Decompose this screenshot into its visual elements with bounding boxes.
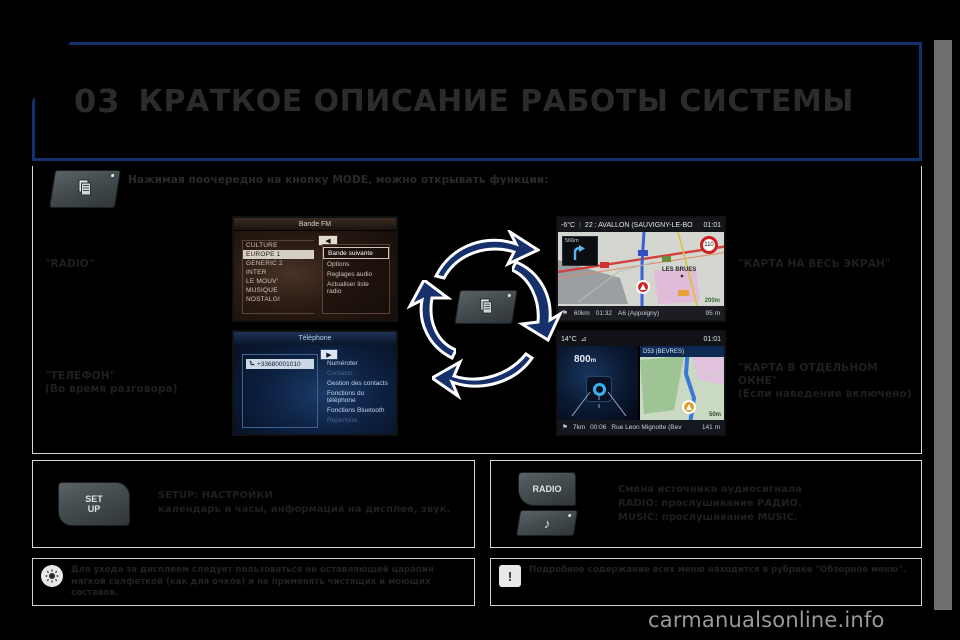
nav-status-bar: -6°C | 22 : AVALLON (SAUVIGNY-LE-BO 01:0… xyxy=(558,218,724,232)
nav-guidance-pane: 800m xyxy=(558,346,638,420)
header-baseline xyxy=(32,158,922,161)
menu-item: Reglages audio xyxy=(323,269,389,279)
remaining-time: 00:06 xyxy=(590,424,606,431)
menu-item-disabled: Contacts xyxy=(324,368,392,378)
display-care-text: Для ухода за дисплеем следует пользовать… xyxy=(71,565,466,600)
audio-source-radio: RADIO: прослушивание РАДИО. xyxy=(618,497,802,511)
caption-phone: "ТЕЛЕФОН" (Во время разговора) xyxy=(45,370,178,396)
caption-radio-label: "RADIO" xyxy=(45,258,94,271)
chapter-number: 03 xyxy=(74,82,121,120)
clock: 01:01 xyxy=(703,336,721,343)
mode-button-illustration xyxy=(52,170,118,208)
caption-phone-sub: (Во время разговора) xyxy=(45,383,178,396)
setup-button-line1: SET xyxy=(85,494,103,504)
menu-item: Fonctions du téléphone xyxy=(324,388,392,405)
setup-button-line2: UP xyxy=(88,504,101,514)
list-item-selected: EUROPE 1 xyxy=(243,250,314,259)
clock: 01:01 xyxy=(703,222,721,229)
menu-reference-note: ! Подробное содержание всех меню находит… xyxy=(490,558,922,606)
nav-trip-bar: ⚑ 7km 00:06 Rue Leon Mignotte (Bev 141 m xyxy=(558,420,724,434)
audio-source-description: Смена источника аудиосигнала RADIO: прос… xyxy=(618,483,802,525)
remaining-distance: 60km xyxy=(574,310,590,317)
setup-title: SETUP: НАСТРОЙКИ xyxy=(158,489,450,503)
manual-page: 03 КРАТКОЕ ОПИСАНИЕ РАБОТЫ СИСТЕМЫ Нажим… xyxy=(0,0,960,640)
caption-nav-split-sub: (Если наведение включено) xyxy=(738,388,912,401)
signal-icon: ⊿ xyxy=(581,335,587,343)
speed-limit-value: 110 xyxy=(704,242,714,248)
caption-nav-fullscreen-label: "КАРТА НА ВЕСЬ ЭКРАН" xyxy=(738,258,890,271)
page-edge-rail xyxy=(934,40,952,610)
display-care-icon xyxy=(41,565,63,587)
scale-value: 141 m xyxy=(702,424,720,431)
speed-limit-sign: 110 xyxy=(700,236,718,254)
radio-button-illustration: RADIO xyxy=(518,472,576,506)
nav-status-bar: 14°C ⊿ 01:01 xyxy=(558,332,724,346)
phone-number: +33680001010 xyxy=(257,361,301,368)
phone-screen-title: Téléphone xyxy=(234,332,396,345)
outside-temperature: -6°C xyxy=(561,222,575,229)
caption-nav-split-label: "КАРТА В ОТДЕЛЬНОМ ОКНЕ" xyxy=(738,362,903,388)
nav-map-pane: D53 (BEVRES) 50m xyxy=(640,346,724,420)
setup-button-illustration: SET UP xyxy=(58,482,130,526)
music-note-icon: ♪ xyxy=(544,516,551,531)
mode-hint-text: Нажимая поочередно на кнопку MODE, можно… xyxy=(128,174,549,186)
list-item: LE MOUV' xyxy=(243,277,314,286)
route-destination: 22 : AVALLON (SAUVIGNY-LE-BO xyxy=(585,222,700,229)
cycle-arrow-right xyxy=(512,258,564,342)
menu-item: Options xyxy=(323,259,389,269)
audio-source-title: Смена источника аудиосигнала xyxy=(618,483,802,497)
audio-source-music: MUSIC: прослушивание MUSIC. xyxy=(618,511,802,525)
nav-trip-bar: ⚑ 60km 01:32 A6 (Appoigny) 95 m xyxy=(558,306,724,320)
mode-pages-icon xyxy=(479,298,494,317)
map-poi-label: LES BRUES xyxy=(662,267,696,273)
mode-button-center xyxy=(457,290,515,324)
page-title: КРАТКОЕ ОПИСАНИЕ РАБОТЫ СИСТЕМЫ xyxy=(139,84,854,119)
current-road-banner: D53 (BEVRES) xyxy=(640,346,724,357)
display-care-note: Для ухода за дисплеем следует пользовать… xyxy=(32,558,475,606)
menu-item: Numéroter xyxy=(324,358,392,368)
map-scale-label: 200m xyxy=(705,298,720,304)
screen-nav-fullscreen: LES BRUES 200m 566m 110 -6°C | 22 : AVAL… xyxy=(556,216,726,322)
menu-item: Fonctions Bluetooth xyxy=(324,405,392,415)
screen-radio: Bande FM CULTURE EUROPE 1 GENERIC 2 INTE… xyxy=(232,216,398,322)
phone-context-menu: Numéroter Contacts Gestion des contacts … xyxy=(324,358,392,428)
vehicle-position-marker xyxy=(682,400,696,414)
phone-handset-icon xyxy=(249,360,255,368)
radio-screen-title: Bande FM xyxy=(234,218,396,231)
site-watermark: carmanualsonline.info xyxy=(648,608,885,632)
list-item: GENERIC 2 xyxy=(243,259,314,268)
vehicle-position-marker xyxy=(636,280,650,294)
turn-distance: 566m xyxy=(563,237,597,245)
menu-item: Actualiser liste radio xyxy=(323,279,389,296)
list-item: CULTURE xyxy=(243,241,314,250)
cycle-arrow-left xyxy=(406,280,456,362)
mode-pages-icon xyxy=(77,179,93,199)
scale-value: 95 m xyxy=(706,310,720,317)
list-item: NOSTALGI xyxy=(243,295,314,304)
map-scale-label: 50m xyxy=(709,412,721,418)
nav-map-canvas: LES BRUES 200m 566m 110 xyxy=(558,232,724,306)
setup-description: SETUP: НАСТРОЙКИ календарь и часы, инфор… xyxy=(158,489,450,517)
next-road: Rue Leon Mignotte (Bev xyxy=(611,424,697,431)
turn-distance: 800m xyxy=(574,354,596,365)
caption-phone-label: "ТЕЛЕФОН" xyxy=(45,370,178,383)
screen-nav-split: 800m D53 (BEVRES) 50m xyxy=(556,330,726,436)
turn-direction-inset: 566m xyxy=(562,236,598,266)
chapter-header: 03 КРАТКОЕ ОПИСАНИЕ РАБОТЫ СИСТЕМЫ xyxy=(32,42,922,160)
remaining-distance: 7km xyxy=(573,424,585,431)
menu-item: Gestion des contacts xyxy=(324,378,392,388)
list-item: INTER xyxy=(243,268,314,277)
flag-icon: ⚑ xyxy=(562,423,568,431)
next-road: A6 (Appoigny) xyxy=(618,310,700,317)
screen-telephone: Téléphone +33680001010 ▶ Numéroter Conta… xyxy=(232,330,398,436)
list-item: MUSIQUE xyxy=(243,286,314,295)
caption-radio: "RADIO" xyxy=(45,258,94,271)
phone-call-list: +33680001010 xyxy=(242,354,318,428)
setup-detail: календарь и часы, информация на дисплее,… xyxy=(158,503,450,517)
menu-item-selected: Bande suivante xyxy=(323,247,389,259)
radio-context-menu: Bande suivante Options Reglages audio Ac… xyxy=(322,244,390,314)
radio-station-list: CULTURE EUROPE 1 GENERIC 2 INTER LE MOUV… xyxy=(242,240,314,314)
music-button-illustration: ♪ xyxy=(518,510,576,536)
remaining-time: 01:32 xyxy=(596,310,612,317)
list-item: +33680001010 xyxy=(246,359,314,369)
radio-button-label: RADIO xyxy=(533,484,562,494)
menu-item-disabled: Répertoire xyxy=(324,415,392,425)
warning-icon: ! xyxy=(499,565,521,587)
caption-nav-split: "КАРТА В ОТДЕЛЬНОМ ОКНЕ" (Если наведение… xyxy=(738,362,912,401)
menu-reference-text: Подробное содержание всех меню находится… xyxy=(529,565,906,577)
caption-nav-fullscreen: "КАРТА НА ВЕСЬ ЭКРАН" xyxy=(738,258,890,271)
